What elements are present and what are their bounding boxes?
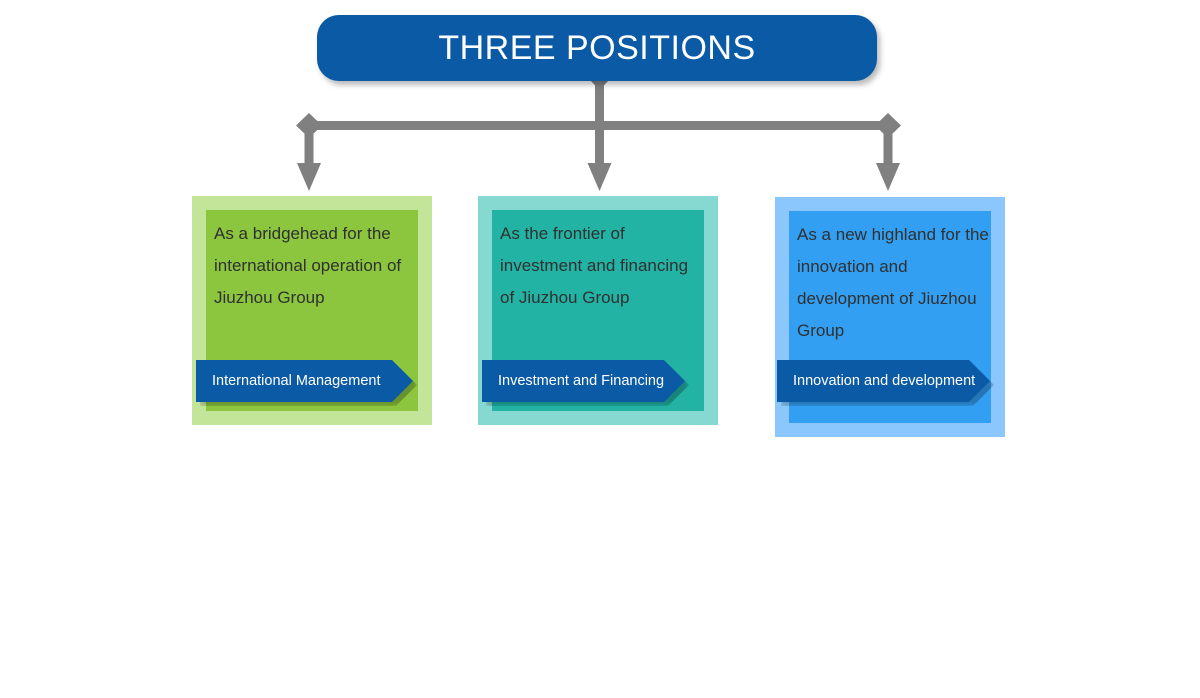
- card-tag-label: Investment and Financing: [482, 374, 664, 389]
- card-tag-label: Innovation and development: [777, 374, 975, 389]
- card-tag-innovation-and-development[interactable]: Innovation and development: [777, 360, 990, 402]
- card-tag-investment-and-financing[interactable]: Investment and Financing: [482, 360, 685, 402]
- card-tag-international-management[interactable]: International Management: [196, 360, 413, 402]
- page-title: THREE POSITIONS: [438, 31, 755, 65]
- card-tag-label: International Management: [196, 374, 380, 389]
- diagram-title-banner: THREE POSITIONS: [317, 15, 877, 81]
